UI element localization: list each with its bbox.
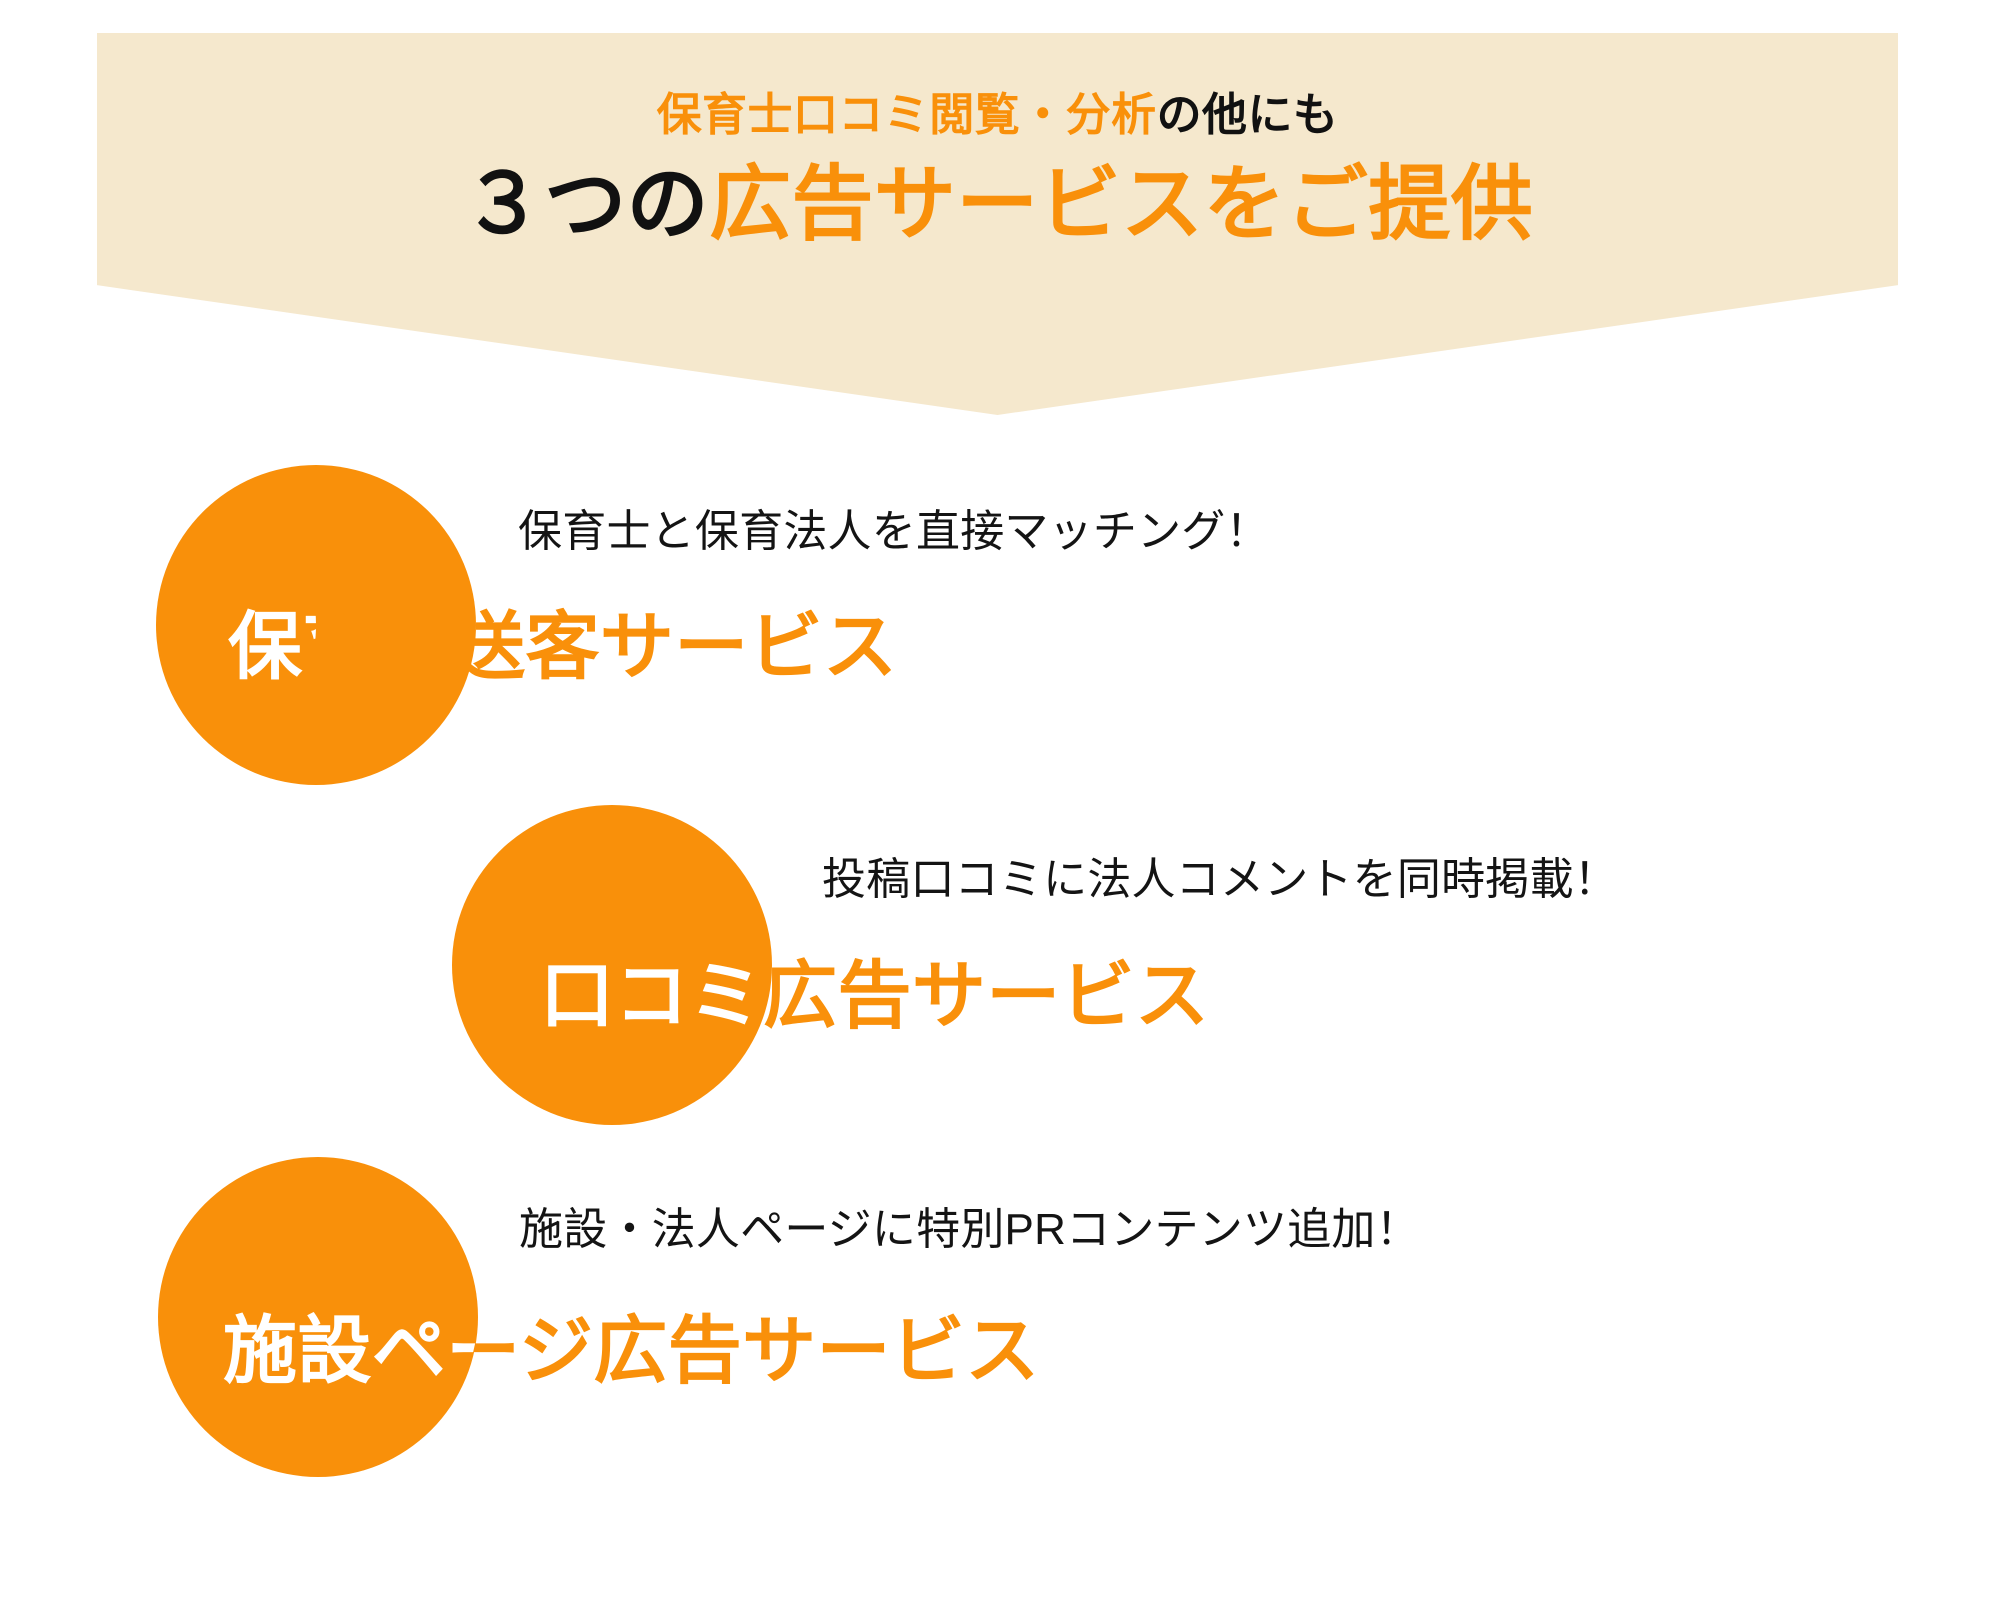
banner-eyebrow-suffix: の他にも bbox=[1157, 89, 1339, 140]
service-item-1: 保育士と保育法人を直接マッチング！ 保育士送客サービス 保育士送客サービス bbox=[0, 460, 2000, 790]
page-title-highlight: 広告サービスをご提供 bbox=[709, 159, 1533, 250]
service-caption-2: 投稿口コミに法人コメントを同時掲載！ bbox=[822, 854, 1618, 907]
service-item-3: 施設・法人ページに特別PRコンテンツ追加！ 施設ページ広告サービス 施設ページ広… bbox=[0, 1152, 2000, 1482]
page-title: ３つの広告サービスをご提供 bbox=[97, 142, 1898, 254]
service-title-1: 保育士送客サービス bbox=[228, 603, 897, 690]
service-caption-3: 施設・法人ページに特別PRコンテンツ追加！ bbox=[519, 1204, 1420, 1257]
banner-eyebrow: 保育士口コミ閲覧・分析の他にも bbox=[97, 33, 1898, 142]
service-caption-1: 保育士と保育法人を直接マッチング！ bbox=[518, 506, 1270, 559]
page-title-prefix: ３つの bbox=[462, 159, 709, 250]
service-item-2: 投稿口コミに法人コメントを同時掲載！ 口コミ広告サービス 口コミ広告サービス bbox=[0, 800, 2000, 1130]
header-banner-content: 保育士口コミ閲覧・分析の他にも ３つの広告サービスをご提供 bbox=[97, 33, 1898, 254]
service-title-wrap-3: 施設ページ広告サービス 施設ページ広告サービス bbox=[223, 1307, 1040, 1394]
service-title-wrap-1: 保育士送客サービス 保育士送客サービス bbox=[228, 603, 897, 690]
banner-eyebrow-highlight: 保育士口コミ閲覧・分析 bbox=[657, 89, 1157, 140]
header-banner: 保育士口コミ閲覧・分析の他にも ３つの広告サービスをご提供 bbox=[97, 33, 1898, 415]
service-title-wrap-2: 口コミ広告サービス 口コミ広告サービス bbox=[540, 952, 1209, 1039]
slide-canvas: 保育士口コミ閲覧・分析の他にも ３つの広告サービスをご提供 保育士と保育法人を直… bbox=[0, 0, 2000, 1604]
